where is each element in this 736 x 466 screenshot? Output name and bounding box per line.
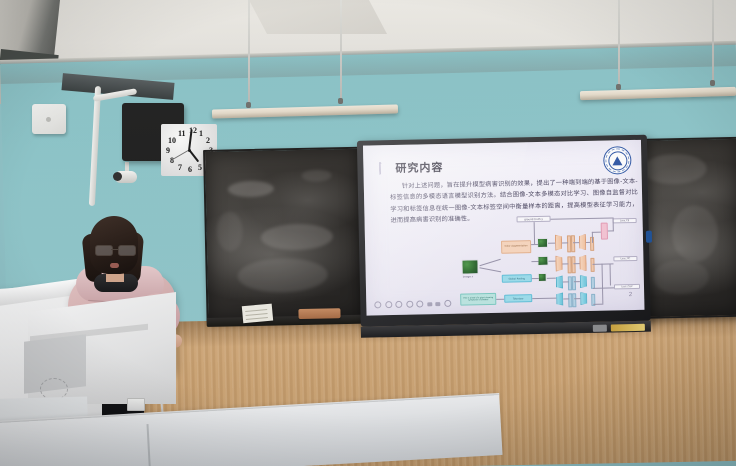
clock-numeral: 7 [178,164,182,172]
ceiling-vent [249,0,387,34]
clock-numeral: 11 [178,130,186,138]
pendant-rod [248,0,250,108]
wifi-access-point [32,104,66,134]
blackboard-eraser[interactable] [298,308,340,319]
diagram-thumb-aug-2 [537,256,548,266]
clock-numeral: 2 [206,137,210,145]
diagram-loss-clip: Loss_CLIP [614,284,640,290]
screen-display[interactable]: 研究内容 针对上述问题，旨在提升模型病害识别的效果，提出了一种端到端的基于图像-… [363,140,644,316]
diagram-node-color-augmentation: Color Augmentation [501,240,531,254]
front-board-assembly: 研究内容 针对上述问题，旨在提升模型病害识别的效果，提出了一种端到端的基于图像-… [203,137,736,333]
slide-page-number: 2 [629,292,632,298]
clock-numeral: 6 [188,166,192,174]
pendant-rod [618,0,620,90]
eyeglasses [95,245,135,254]
pendant-rod [340,0,342,104]
clock-center-pin [188,149,191,152]
diagram-loss-itc: Loss_ITC [613,256,637,262]
diagram-encoder-image-4 [579,255,586,271]
clock-numeral: 10 [168,137,176,145]
screen-indicator-strip [611,324,645,332]
screen-side-button[interactable] [646,231,652,243]
pendant-rod [712,0,714,86]
security-camera [115,168,141,184]
diagram-loss-ce: Loss_CE [613,218,637,224]
diagram-thumb-aug-3 [538,273,547,282]
clock-numeral: 1 [199,130,203,138]
diagram-node-classifier [601,223,608,240]
clock-numeral: 9 [166,147,170,155]
blackboard-left [203,147,365,322]
diagram-thumb-aug-1 [537,238,548,248]
clock-numeral: 5 [198,164,202,172]
university-seal-logo [603,146,632,175]
diagram-encoder-text-4 [580,292,587,305]
wall-clock: 12 1 2 3 4 5 6 7 8 9 10 11 [122,103,184,161]
tray-paper [242,304,273,324]
diagram-node-tokenizer: Tokenizer [504,294,532,303]
diagram-encoder-text-2 [556,292,563,305]
wall-power-outlet[interactable] [127,398,145,411]
diagram-node-global-pooling: Global Pooling [502,274,532,283]
diagram-encoder-text-3 [580,275,587,288]
diagram-encoder-text-1 [556,275,563,288]
clock-second-hand [172,150,189,160]
classroom-photo: 12 1 2 3 4 5 6 7 8 9 10 11 [0,0,736,466]
chalk-tray [207,315,367,327]
screen-port-cover [593,325,607,332]
mouth [110,263,119,268]
interactive-smart-board[interactable]: 研究内容 针对上述问题，旨在提升模型病害识别的效果，提出了一种端到端的基于图像-… [357,135,651,327]
